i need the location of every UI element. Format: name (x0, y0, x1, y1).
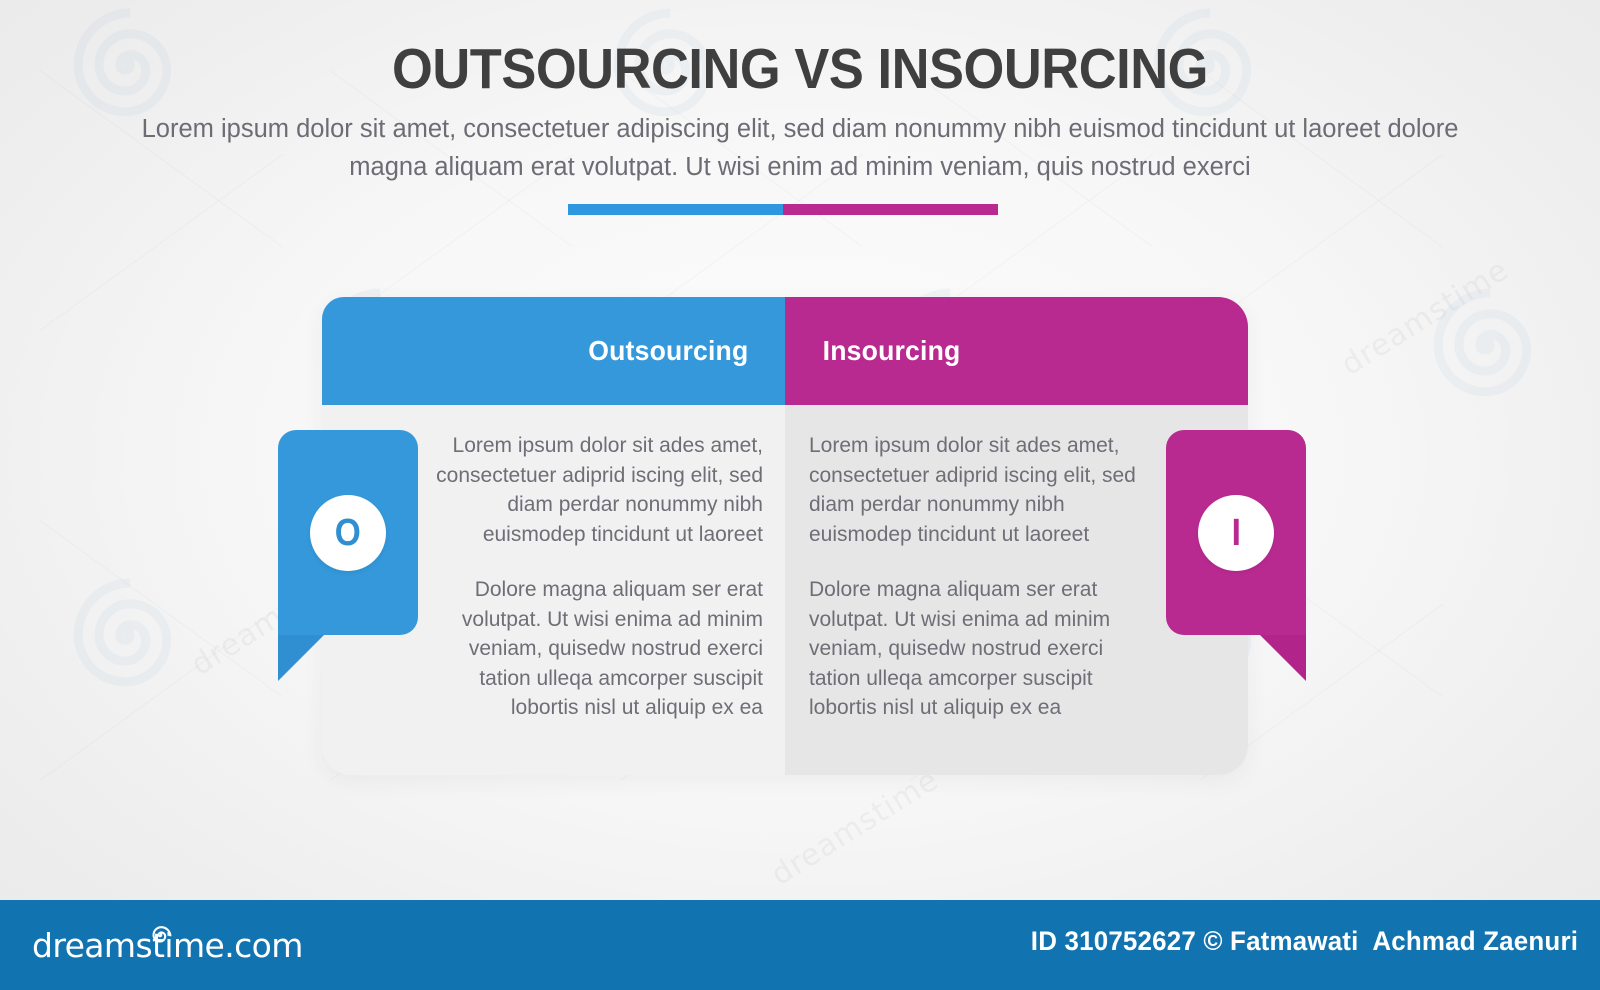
insourcing-paragraph-1: Lorem ipsum dolor sit ades amet, consect… (809, 431, 1140, 549)
outsourcing-badge-disc: O (310, 495, 386, 571)
card-content: Lorem ipsum dolor sit ades amet, consect… (322, 405, 1248, 775)
comparison-card: Outsourcing Insourcing Lorem ipsum dolor… (322, 297, 1248, 775)
card-header-bar: Outsourcing Insourcing (322, 297, 1248, 405)
outsourcing-badge-tail (278, 635, 324, 681)
outsourcing-paragraph-2: Dolore magna aliquam ser erat volutpat. … (430, 575, 763, 723)
dreamstime-spiral-icon (147, 922, 173, 948)
image-credit: ID 310752627 © Fatmawati Achmad Zaenuri (1031, 926, 1578, 957)
divider-magenta-segment (783, 204, 998, 215)
infographic-canvas: dreamstime dreamstime dreamstime OUTSOUR… (0, 0, 1600, 990)
outsourcing-paragraph-1: Lorem ipsum dolor sit ades amet, consect… (430, 431, 763, 549)
divider-blue-segment (568, 204, 783, 215)
insourcing-badge-disc: I (1198, 495, 1274, 571)
letter-o-icon: O (335, 514, 361, 552)
accent-divider (568, 204, 998, 215)
insourcing-badge[interactable]: I (1166, 430, 1306, 635)
insourcing-badge-tail (1260, 635, 1306, 681)
spiral-watermark-icon (60, 570, 190, 700)
header-outsourcing-label: Outsourcing (589, 335, 749, 367)
header-insourcing-label: Insourcing (823, 335, 961, 367)
footer-bar: dreamstime.com ID 310752627 © Fatmawati … (0, 900, 1600, 990)
insourcing-paragraph-2: Dolore magna aliquam ser erat volutpat. … (809, 575, 1140, 723)
outsourcing-badge[interactable]: O (278, 430, 418, 635)
page-title: OUTSOURCING VS INSOURCING (64, 36, 1536, 102)
spiral-watermark-icon (1420, 280, 1550, 410)
header-insourcing[interactable]: Insourcing (785, 297, 1248, 405)
letter-i-icon: I (1231, 514, 1240, 552)
header-outsourcing[interactable]: Outsourcing (322, 297, 785, 405)
page-subtitle: Lorem ipsum dolor sit amet, consectetuer… (118, 110, 1482, 186)
